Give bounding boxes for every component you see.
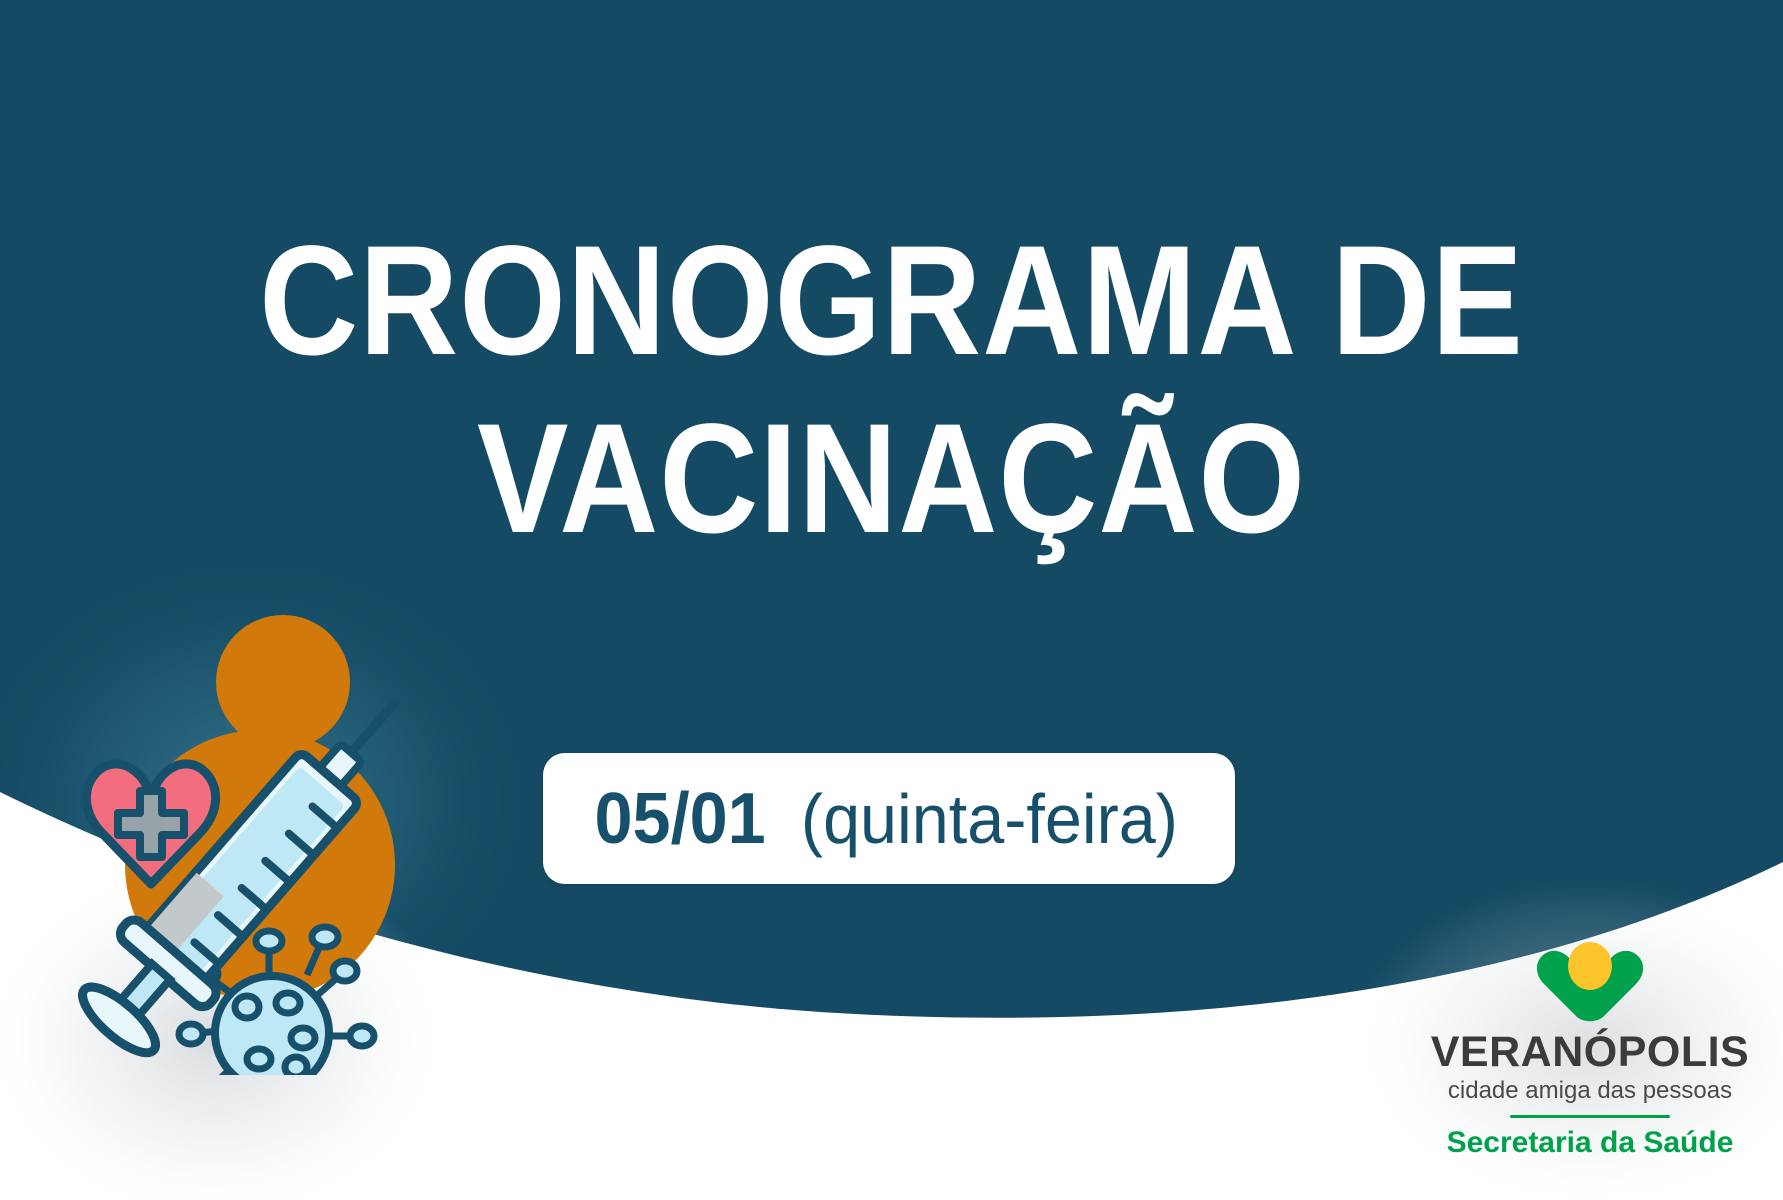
orange-circle-small [216, 615, 350, 749]
date-weekday: (quinta-feira) [801, 784, 1178, 854]
date-number: 05/01 [595, 783, 766, 855]
vaccination-illustration [55, 575, 455, 1075]
vaccination-schedule-poster: CRONOGRAMA DE VACINAÇÃO 05/01 (quinta-fe… [0, 0, 1783, 1200]
veranopolis-logo: VERANÓPOLIS cidade amiga das pessoas Sec… [1425, 940, 1755, 1161]
logo-city-name: VERANÓPOLIS [1425, 1028, 1755, 1076]
date-badge[interactable]: 05/01 (quinta-feira) [543, 753, 1235, 884]
logo-tagline: cidade amiga das pessoas [1425, 1076, 1755, 1106]
logo-divider [1510, 1115, 1670, 1118]
person-with-raised-arms-icon [1530, 940, 1650, 1026]
logo-department: Secretaria da Saúde [1425, 1125, 1755, 1161]
